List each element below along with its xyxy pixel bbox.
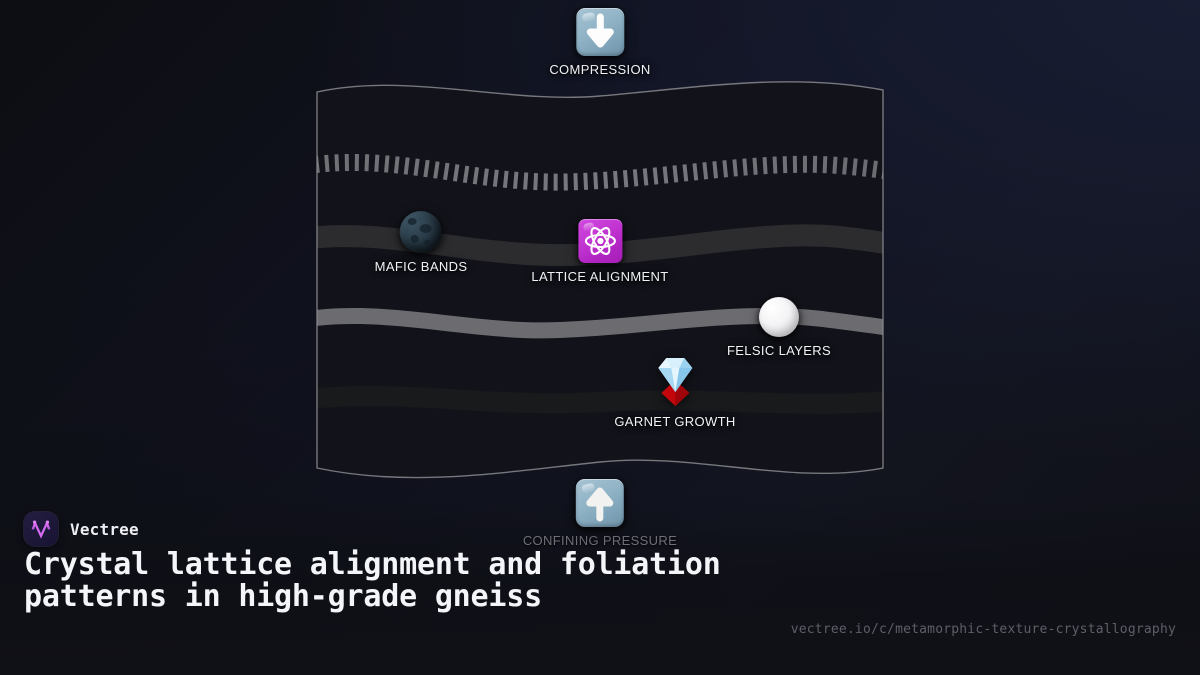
stress-arrow-label: CONFINING PRESSURE bbox=[523, 533, 677, 548]
stress-arrow-confining-pressure[interactable]: CONFINING PRESSURE bbox=[523, 479, 677, 548]
feature-label: FELSIC LAYERS bbox=[727, 343, 831, 358]
feature-label: MAFIC BANDS bbox=[375, 259, 468, 274]
stress-arrow-label: COMPRESSION bbox=[549, 62, 650, 77]
vectree-antler-logo-icon bbox=[24, 512, 58, 546]
gem-diamond-icon bbox=[649, 352, 701, 408]
feature-label: GARNET GROWTH bbox=[614, 414, 735, 429]
feature-label: LATTICE ALIGNMENT bbox=[531, 269, 668, 284]
up-arrow-tile-icon bbox=[576, 479, 624, 527]
source-url: vectree.io/c/metamorphic-texture-crystal… bbox=[791, 622, 1176, 637]
feature-lattice-alignment[interactable]: LATTICE ALIGNMENT bbox=[531, 219, 668, 284]
feature-mafic-bands[interactable]: MAFIC BANDS bbox=[375, 211, 468, 274]
feature-felsic-layers[interactable]: FELSIC LAYERS bbox=[727, 297, 831, 358]
down-arrow-tile-icon bbox=[576, 8, 624, 56]
brand-lockup[interactable]: Vectree bbox=[24, 512, 139, 546]
stress-arrow-compression[interactable]: COMPRESSION bbox=[549, 8, 650, 77]
white-circle-icon bbox=[759, 297, 799, 337]
feature-garnet-growth[interactable]: GARNET GROWTH bbox=[614, 352, 735, 429]
atom-tile-icon bbox=[578, 219, 622, 263]
brand-name: Vectree bbox=[70, 520, 139, 539]
page-title: Crystal lattice alignment and foliation … bbox=[24, 549, 784, 613]
dark-moon-icon bbox=[400, 211, 442, 253]
